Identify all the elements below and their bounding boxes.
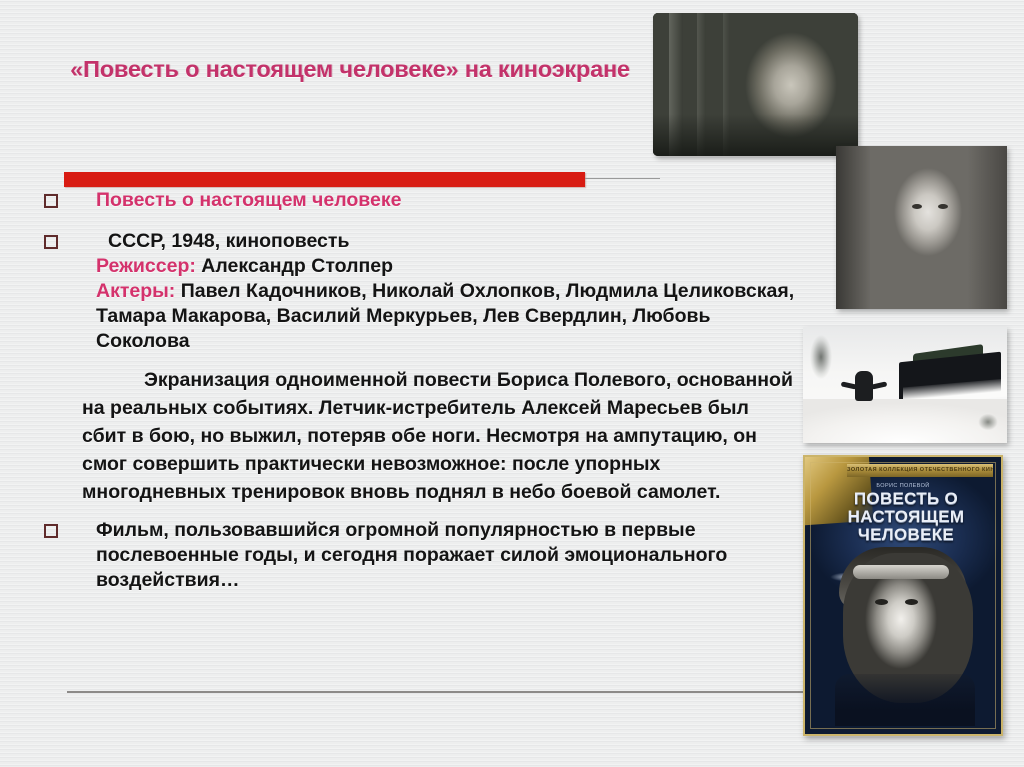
poster-pilot-eye-right (905, 599, 918, 605)
poster-pilot-goggles (853, 565, 949, 579)
red-accent-bar (64, 172, 585, 187)
snow-tree (807, 329, 837, 391)
director-label: Режиссер: (96, 255, 196, 277)
bullet-square-icon (44, 235, 58, 249)
portrait-eye-left (912, 204, 922, 209)
poster-collection-banner-text: ЗОЛОТАЯ КОЛЛЕКЦИЯ ОТЕЧЕСТВЕННОГО КИНО (847, 464, 993, 477)
actors-value: Павел Кадочников, Николай Охлопков, Людм… (96, 280, 794, 352)
list-item: Повесть о настоящем человеке (44, 188, 804, 213)
content-body: Повесть о настоящем человеке СССР, 1948,… (44, 188, 804, 593)
portrait-eye-right (938, 204, 948, 209)
director-value: Александр Столпер (196, 255, 393, 277)
actors-label: Актеры: (96, 280, 175, 302)
bottom-divider (67, 691, 805, 693)
film-director-line: Режиссер: Александр Столпер (96, 254, 804, 279)
bullet-square-icon (44, 194, 58, 208)
poster-pilot-collar (835, 674, 975, 726)
film-actors-line: Актеры: Павел Кадочников, Николай Охлопк… (96, 279, 804, 354)
paragraph-row: Экранизация одноименной повести Бориса П… (44, 366, 804, 506)
paragraph-body: Экранизация одноименной повести Бориса П… (82, 366, 804, 506)
bullet-square-icon (44, 524, 58, 538)
list-item: Фильм, пользовавшийся огромной популярно… (44, 518, 804, 593)
list-item-body: Повесть о настоящем человеке (96, 188, 804, 213)
list-item-body: СССР, 1948, киноповесть Режиссер: Алекса… (96, 229, 804, 354)
portrait-vignette-right (967, 146, 1007, 309)
list-item-body: Фильм, пользовавшийся огромной популярно… (96, 518, 804, 593)
slide-title-band: «Повесть о настоящем человеке» на киноэк… (50, 48, 650, 90)
poster-pilot-eye-left (875, 599, 888, 605)
slide-root: «Повесть о настоящем человеке» на киноэк… (0, 0, 1024, 767)
poster-title-text: ПОВЕСТЬ О НАСТОЯЩЕМ ЧЕЛОВЕКЕ (819, 490, 993, 544)
film-synopsis-paragraph: Экранизация одноименной повести Бориса П… (82, 366, 798, 506)
portrait-vignette-left (836, 146, 870, 309)
poster-collection-banner: ЗОЛОТАЯ КОЛЛЕКЦИЯ ОТЕЧЕСТВЕННОГО КИНО (847, 464, 993, 477)
list-item: СССР, 1948, киноповесть Режиссер: Алекса… (44, 229, 804, 354)
red-accent-bar-tail (585, 178, 660, 179)
film-country-year-genre: СССР, 1948, киноповесть (96, 229, 804, 254)
scene-shadow (653, 114, 858, 156)
film-title-text: Повесть о настоящем человеке (96, 188, 804, 213)
snow-bush (975, 411, 1001, 433)
film-reception-text: Фильм, пользовавшийся огромной популярно… (96, 518, 804, 593)
film-still-snow-image (803, 327, 1007, 443)
page-title: «Повесть о настоящем человеке» на киноэк… (70, 56, 630, 83)
film-still-portrait-image (836, 146, 1007, 309)
film-still-face-dark-image (653, 13, 858, 156)
dvd-cover-image: ЗОЛОТАЯ КОЛЛЕКЦИЯ ОТЕЧЕСТВЕННОГО КИНО БО… (803, 455, 1003, 736)
